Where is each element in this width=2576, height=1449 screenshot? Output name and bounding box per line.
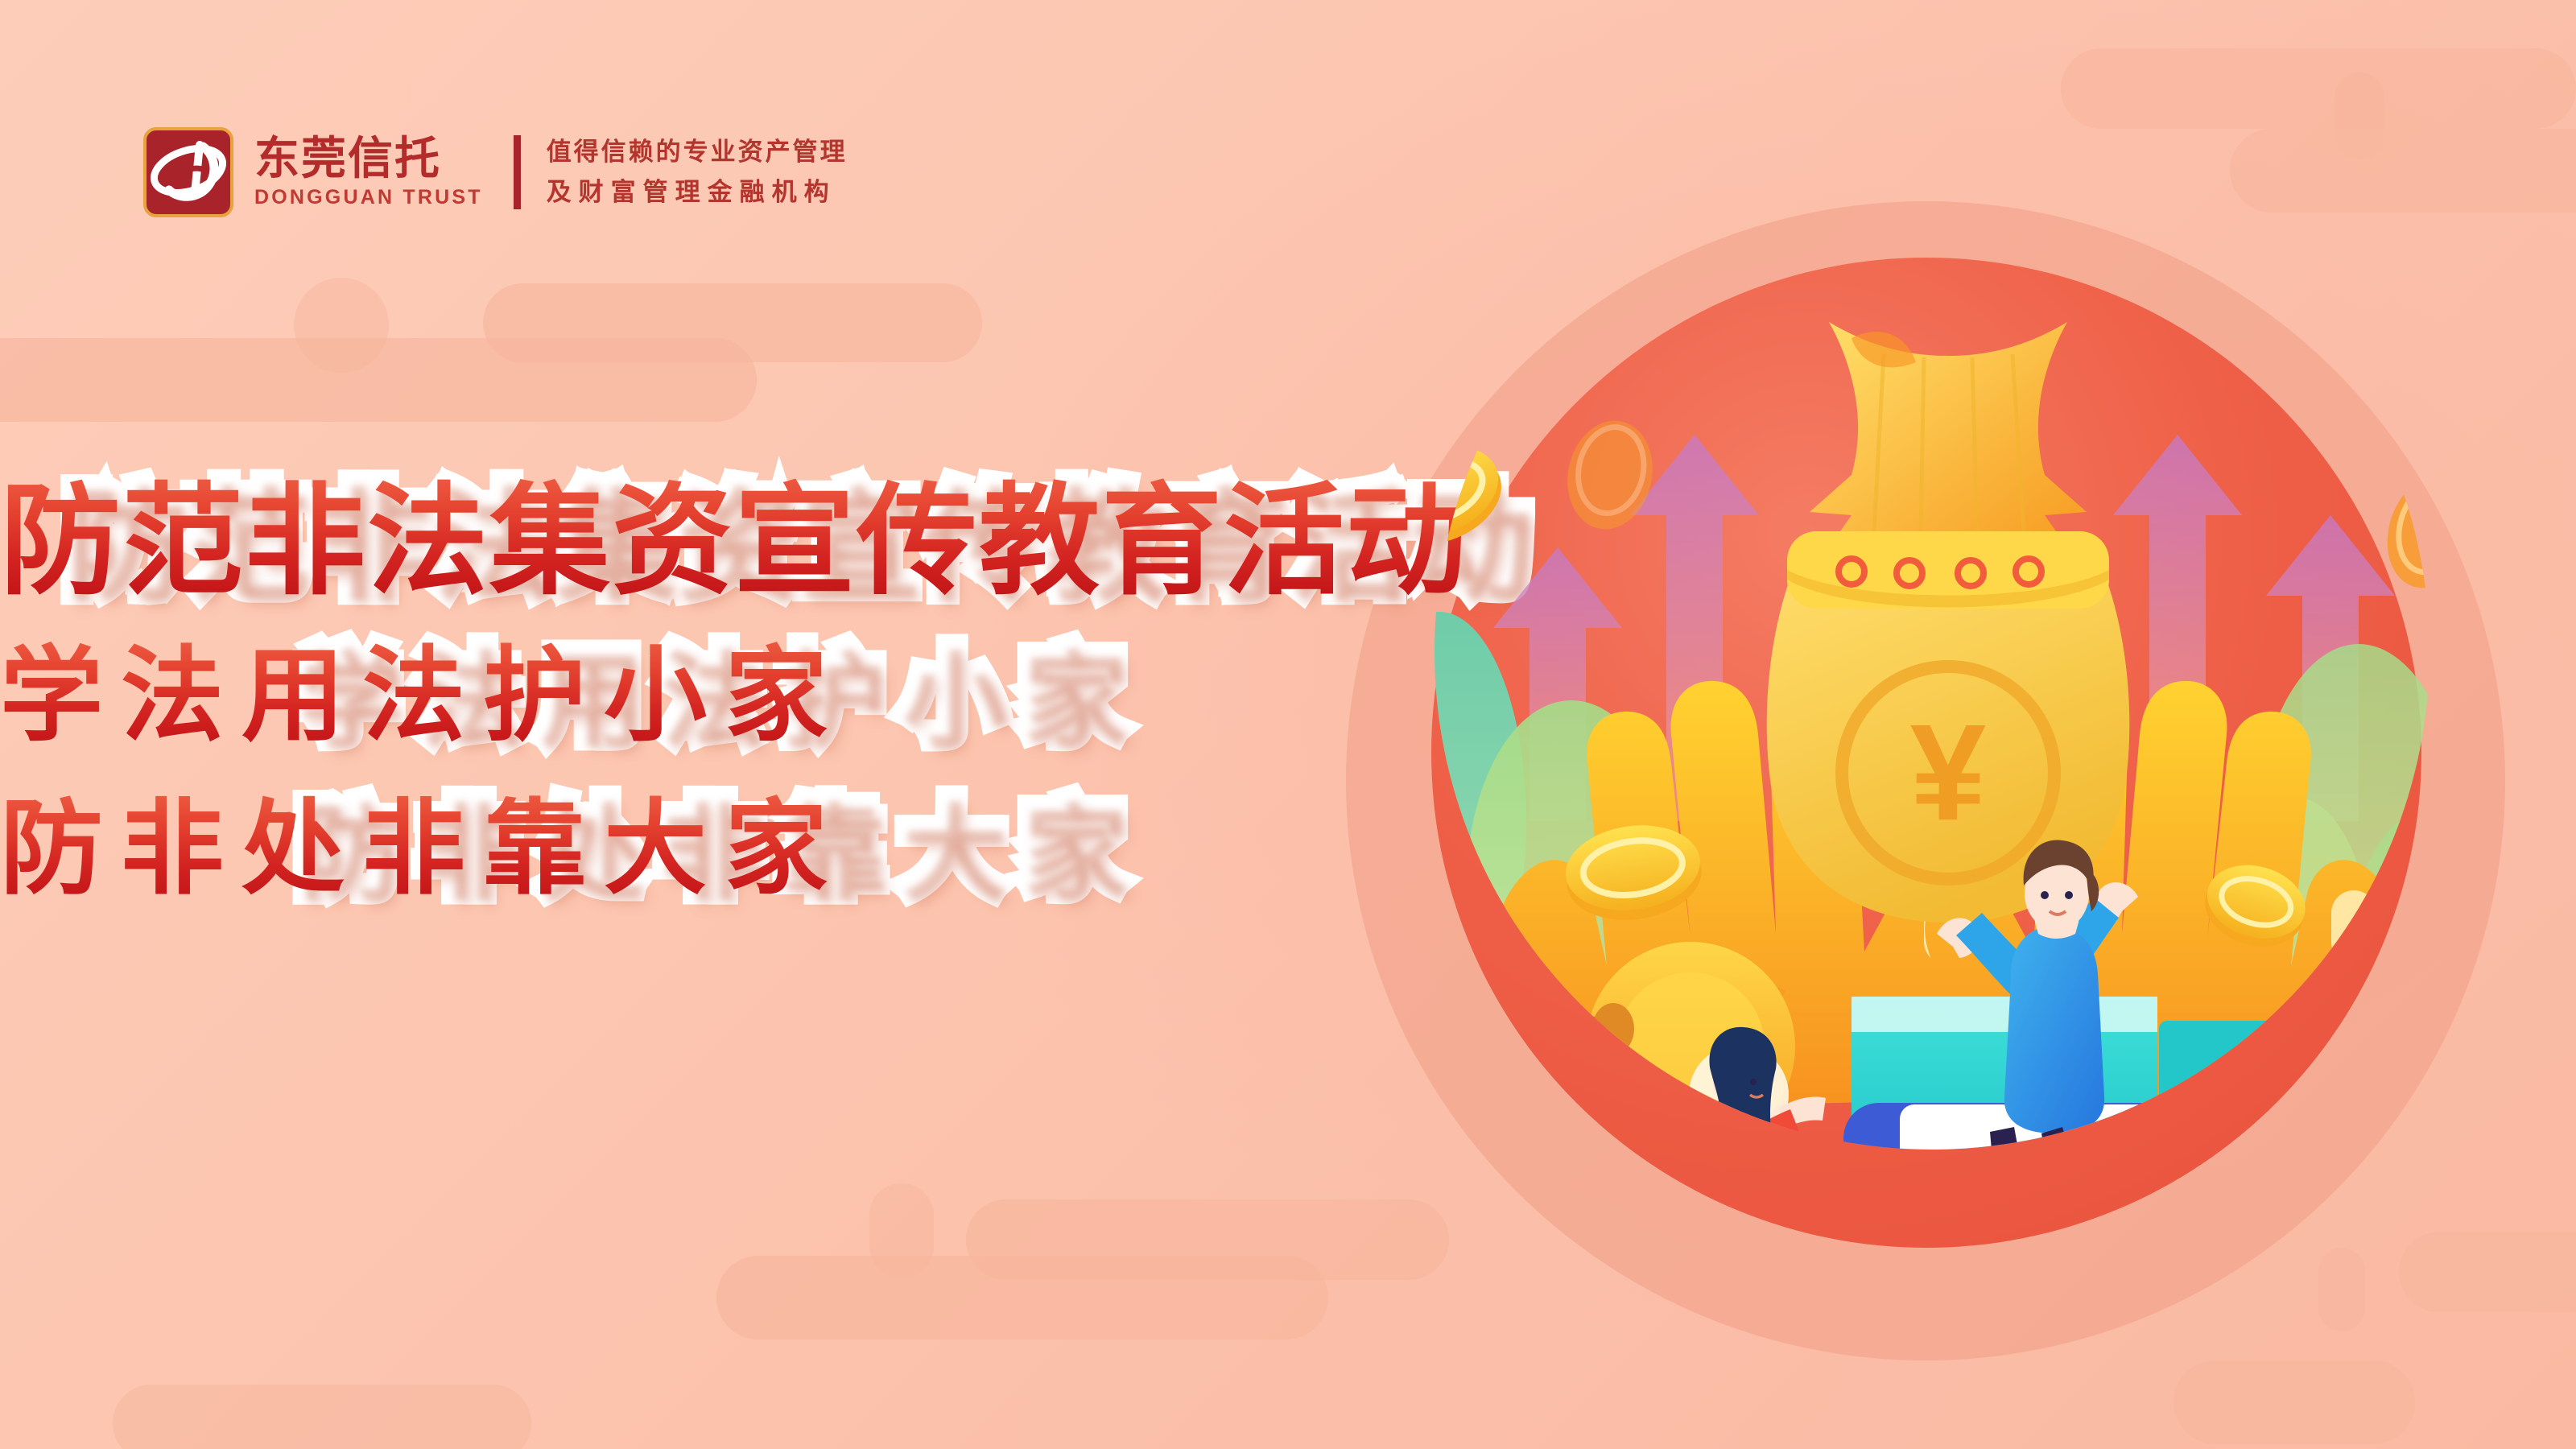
brand-tagline: 值得信赖的专业资产管理 及财富管理金融机构 — [547, 130, 848, 214]
money-bag-yen-symbol: ¥ — [1910, 696, 1987, 849]
headline-line-2-fill: 学法用法护小家 — [0, 636, 845, 757]
brand-wordmark: 东莞信托 DONGGUAN TRUST — [254, 127, 483, 217]
poster-banner: 东莞信托 DONGGUAN TRUST 值得信赖的专业资产管理 及财富管理金融机… — [0, 0, 2576, 1449]
decor-pill-7 — [2399, 1232, 2576, 1312]
gold-ingots — [2133, 1091, 2323, 1169]
tagline-line-2: 及财富管理金融机构 — [547, 172, 848, 213]
logo-divider — [514, 135, 521, 209]
headline-line-2: 学法用法护小家 学法用法护小家 — [0, 636, 1360, 757]
decor-pill-8 — [2173, 1360, 2415, 1444]
tagline-line-1: 值得信赖的专业资产管理 — [547, 132, 848, 172]
company-name-en: DONGGUAN TRUST — [254, 185, 483, 209]
decor-pill-9 — [113, 1385, 531, 1449]
headline-line-3: 防非处非靠大家 防非处非靠大家 — [0, 789, 1360, 910]
brand-logo: 东莞信托 DONGGUAN TRUST 值得信赖的专业资产管理 及财富管理金融机… — [143, 127, 848, 217]
decor-dot-4 — [2318, 1248, 2365, 1331]
decor-dot-1 — [294, 278, 389, 373]
company-name-cn: 东莞信托 — [254, 135, 483, 182]
finance-illustration: ¥ — [1288, 97, 2576, 1240]
headline-line-1: 防范非法集资宣传教育活动 防范非法集资宣传教育活动 — [0, 473, 1360, 609]
headline-group: 防范非法集资宣传教育活动 防范非法集资宣传教育活动 学法用法护小家 学法用法护小… — [0, 473, 1360, 910]
scales-of-justice — [1336, 963, 1666, 1240]
dongguan-trust-swirl-logo-icon — [143, 127, 233, 217]
decor-pill-2 — [483, 283, 982, 362]
headline-line-1-fill: 防范非法集资宣传教育活动 — [0, 473, 1468, 609]
headline-line-3-fill: 防非处非靠大家 — [0, 789, 845, 910]
decor-dot-3 — [869, 1183, 934, 1278]
